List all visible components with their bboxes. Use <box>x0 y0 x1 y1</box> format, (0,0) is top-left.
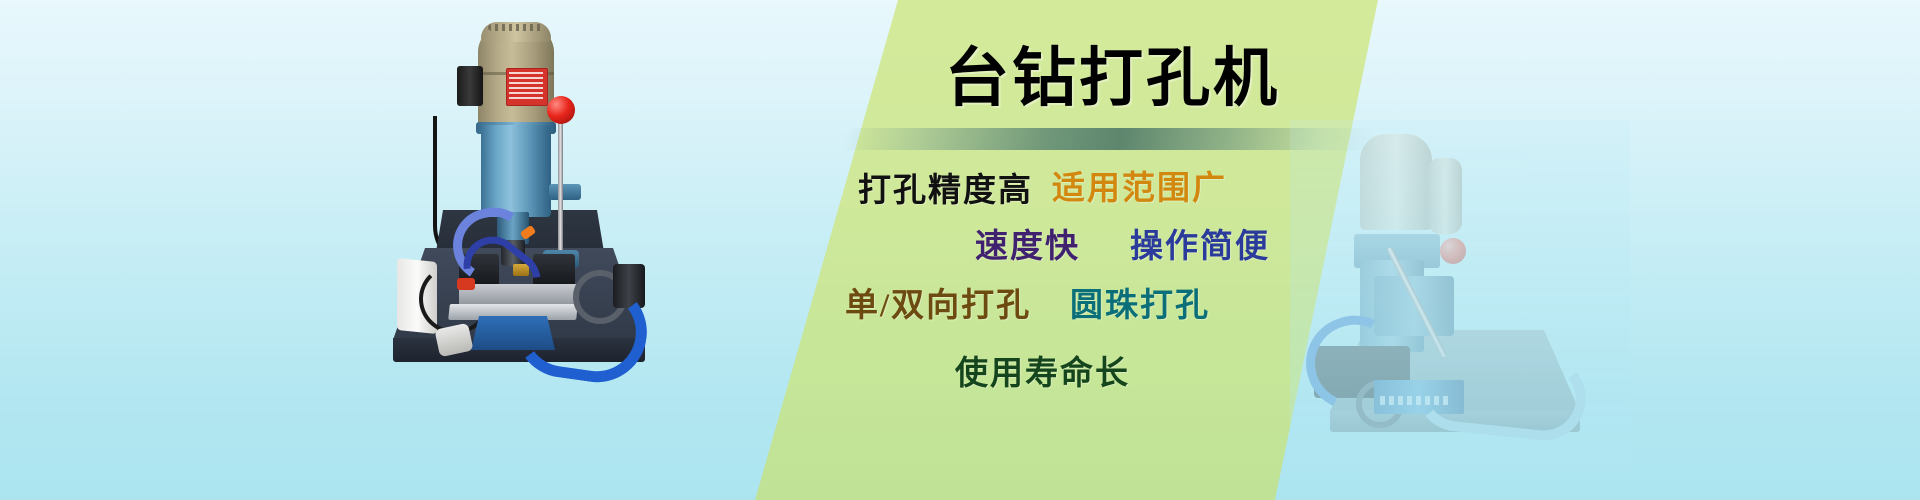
machine2-fade-overlay <box>1290 120 1630 480</box>
motor-label-text <box>509 72 543 100</box>
junction-box <box>457 66 483 106</box>
banner-title: 台钻打孔机 <box>945 44 1280 114</box>
product-photo-main <box>375 12 665 372</box>
motor-vents <box>488 24 544 31</box>
product-photo-secondary <box>1320 130 1620 470</box>
coolant-valve <box>457 278 475 290</box>
side-arm <box>549 184 581 200</box>
spindle-housing <box>481 125 551 217</box>
feature-lifetime: 使用寿命长 <box>955 355 1130 393</box>
feature-ball-drilling: 圆珠打孔 <box>1070 287 1210 325</box>
product-banner: 台钻打孔机 打孔精度高 适用范围广 速度快 操作简便 单/双向打孔 圆珠打孔 使… <box>0 0 1920 500</box>
feature-easy-operation: 操作简便 <box>1130 228 1270 266</box>
lever-ball-red <box>547 96 575 124</box>
feature-direction: 单/双向打孔 <box>845 287 1031 325</box>
lever-rod <box>558 112 563 260</box>
feature-range: 适用范围广 <box>1052 170 1227 208</box>
feature-speed: 速度快 <box>975 228 1080 266</box>
feature-accuracy: 打孔精度高 <box>858 172 1033 210</box>
